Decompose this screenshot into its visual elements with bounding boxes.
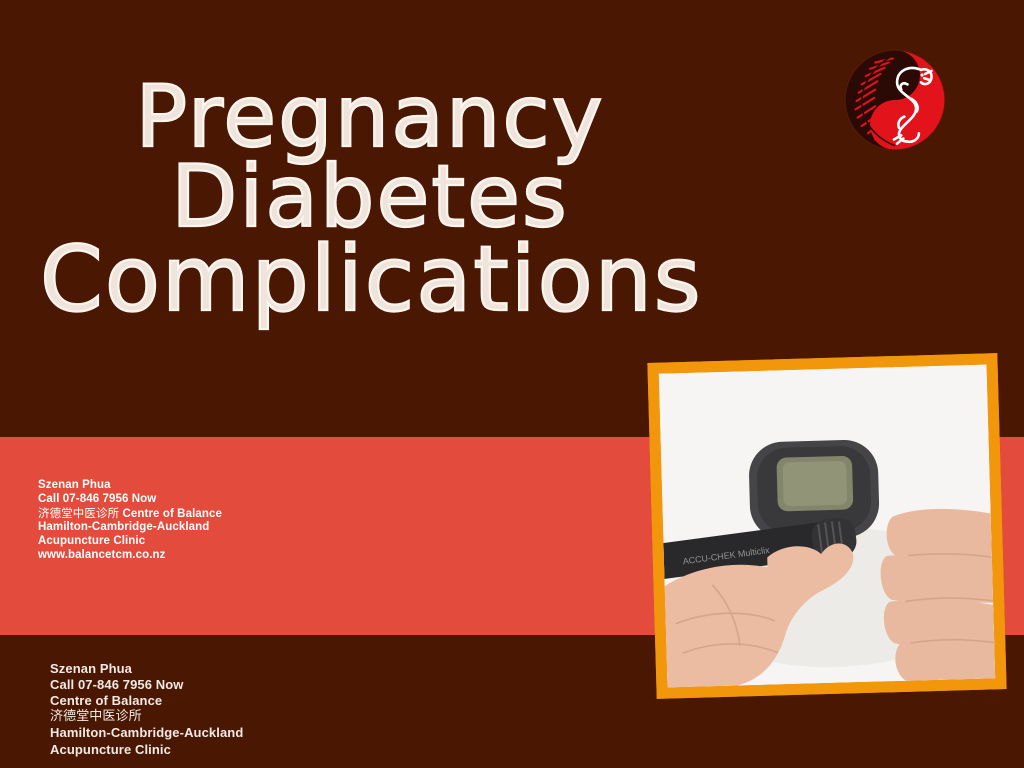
presentation-slide: Pregnancy Diabetes Complications bbox=[0, 0, 1024, 768]
footer-clinic-cn: 济德堂中医诊所 bbox=[50, 709, 243, 725]
contact-type: Acupuncture Clinic bbox=[38, 535, 222, 549]
glucose-meter-photo: ACCU-CHEK Multiclix bbox=[659, 364, 996, 687]
contact-name: Szenan Phua bbox=[38, 479, 222, 493]
page-title: Pregnancy Diabetes Complications bbox=[40, 78, 700, 322]
footer-type: Acupuncture Clinic bbox=[50, 742, 243, 758]
centre-of-balance-logo bbox=[843, 48, 947, 152]
footer-contact-name: Szenan Phua bbox=[50, 661, 243, 677]
footer-clinic-en: Centre of Balance bbox=[50, 693, 243, 709]
title-line-3: Complications bbox=[40, 238, 700, 322]
contact-clinic-en: Centre of Balance bbox=[123, 508, 222, 520]
footer-contact-phone: Call 07-846 7956 Now bbox=[50, 677, 243, 693]
title-line-1: Pregnancy bbox=[40, 78, 700, 158]
contact-locations: Hamilton-Cambridge-Auckland bbox=[38, 521, 222, 535]
contact-website[interactable]: www.balancetcm.co.nz bbox=[38, 549, 222, 563]
footer-locations: Hamilton-Cambridge-Auckland bbox=[50, 725, 243, 741]
glucose-meter-photo-frame: ACCU-CHEK Multiclix bbox=[647, 353, 1006, 699]
contact-block-bottom: Szenan Phua Call 07-846 7956 Now Centre … bbox=[50, 661, 243, 758]
contact-clinic-line: 济德堂中医诊所 Centre of Balance bbox=[38, 507, 222, 522]
contact-phone: Call 07-846 7956 Now bbox=[38, 493, 222, 507]
contact-block-middle: Szenan Phua Call 07-846 7956 Now 济德堂中医诊所… bbox=[38, 479, 222, 563]
title-line-2: Diabetes bbox=[40, 158, 700, 238]
contact-clinic-cn: 济德堂中医诊所 bbox=[38, 506, 119, 520]
